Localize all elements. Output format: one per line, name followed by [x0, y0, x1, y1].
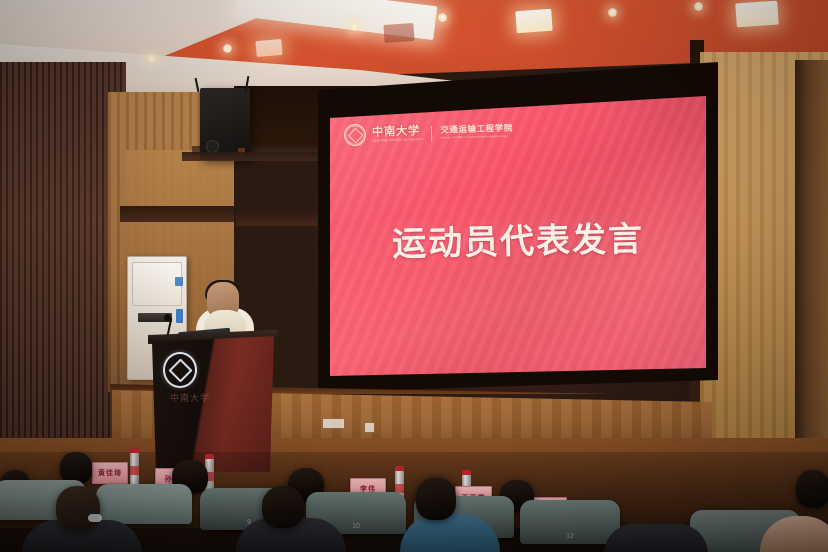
name-placard: 黄佳琦 — [92, 462, 128, 484]
university-emblem-icon — [163, 352, 197, 388]
audience-head — [796, 470, 828, 508]
university-seal-icon — [344, 124, 367, 147]
university-name-en: CENTRAL SOUTH UNIVERSITY — [372, 138, 424, 143]
school-name-en: School of Traffic & Transportation Engin… — [441, 134, 514, 140]
school-name-cn: 交通运输工程学院 — [440, 124, 513, 134]
auditorium-seat — [96, 484, 192, 524]
ceiling-downlight — [223, 44, 232, 53]
ceiling-panel-vent — [383, 23, 414, 43]
microphone-head-icon — [164, 314, 171, 321]
wall-trim-stripe — [236, 212, 324, 226]
audience-head — [56, 486, 100, 530]
wall-trim-stripe — [120, 206, 234, 222]
slide-logo: 中南大学 CENTRAL SOUTH UNIVERSITY 交通运输工程学院 S… — [344, 120, 514, 147]
water-bottle — [130, 452, 139, 486]
seat-number: 10 — [352, 523, 360, 530]
ceiling-downlight — [438, 13, 447, 22]
logo-divider — [431, 125, 432, 140]
face-mask — [88, 514, 102, 522]
wall-outlet — [364, 422, 375, 433]
wall-speaker-icon — [200, 88, 250, 160]
audience-shoulders — [604, 524, 708, 552]
audience-head — [416, 478, 456, 520]
ceiling-panel-light — [735, 1, 779, 28]
ceiling-panel-light — [255, 39, 282, 57]
ceiling-downlight — [694, 2, 703, 11]
university-name-cn: 中南大学 — [372, 125, 424, 138]
ceiling-downlight — [608, 8, 617, 17]
slide-title: 运动员代表发言 — [330, 210, 706, 267]
wall-outlet — [322, 418, 345, 429]
audience-head — [262, 486, 304, 528]
right-wall-edge — [795, 60, 828, 460]
seat-number: 12 — [566, 533, 574, 540]
projection-screen: 中南大学 CENTRAL SOUTH UNIVERSITY 交通运输工程学院 S… — [330, 96, 706, 376]
podium-front-text: 中南大学 — [170, 394, 210, 405]
ceiling-panel-light — [515, 9, 552, 33]
auditorium-photo: 中南大学 CENTRAL SOUTH UNIVERSITY 交通运输工程学院 S… — [0, 0, 828, 552]
ceiling-downlight — [350, 22, 359, 31]
auditorium-seat: 12 — [520, 500, 620, 544]
ceiling-downlight — [147, 54, 156, 63]
